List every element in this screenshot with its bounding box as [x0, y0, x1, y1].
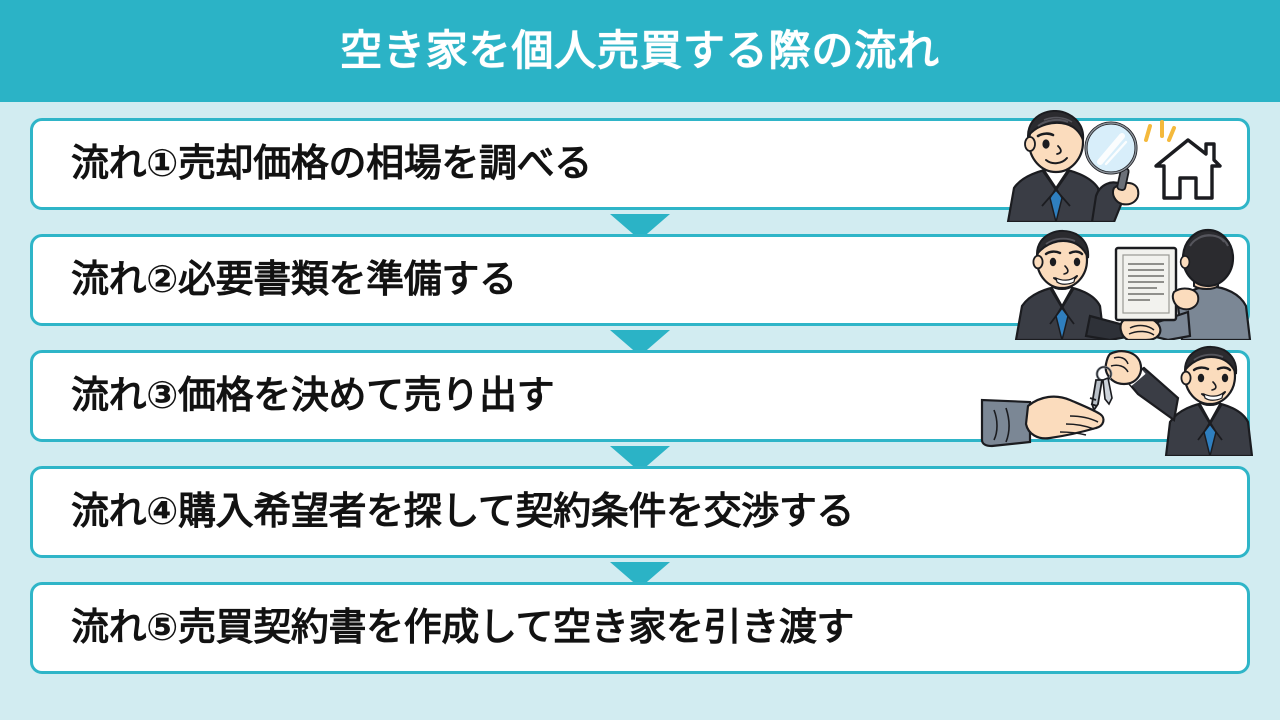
step-box-5[interactable]: 流れ⑤売買契約書を作成して空き家を引き渡す: [30, 582, 1250, 674]
step-row-1: 流れ①売却価格の相場を調べる: [30, 118, 1250, 210]
step-box-3[interactable]: 流れ③価格を決めて売り出す: [30, 350, 1250, 442]
step-row-4: 流れ④購入希望者を探して契約条件を交渉する: [30, 466, 1250, 558]
infographic-canvas: 空き家を個人売買する際の流れ 流れ①売却価格の相場を調べる: [0, 0, 1280, 720]
steps-container: 流れ①売却価格の相場を調べる: [0, 102, 1280, 720]
step-label-1: 流れ①売却価格の相場を調べる: [33, 145, 592, 183]
step-label-4: 流れ④購入希望者を探して契約条件を交渉する: [33, 493, 854, 531]
page-title: 空き家を個人売買する際の流れ: [340, 30, 940, 72]
step-label-2: 流れ②必要書類を準備する: [33, 261, 517, 299]
step-box-1[interactable]: 流れ①売却価格の相場を調べる: [30, 118, 1250, 210]
step-box-2[interactable]: 流れ②必要書類を準備する: [30, 234, 1250, 326]
step-row-2: 流れ②必要書類を準備する: [30, 234, 1250, 326]
step-box-4[interactable]: 流れ④購入希望者を探して契約条件を交渉する: [30, 466, 1250, 558]
step-label-5: 流れ⑤売買契約書を作成して空き家を引き渡す: [33, 609, 854, 647]
step-row-3: 流れ③価格を決めて売り出す: [30, 350, 1250, 442]
header-banner: 空き家を個人売買する際の流れ: [0, 0, 1280, 102]
step-row-5: 流れ⑤売買契約書を作成して空き家を引き渡す: [30, 582, 1250, 674]
step-label-3: 流れ③価格を決めて売り出す: [33, 377, 554, 415]
